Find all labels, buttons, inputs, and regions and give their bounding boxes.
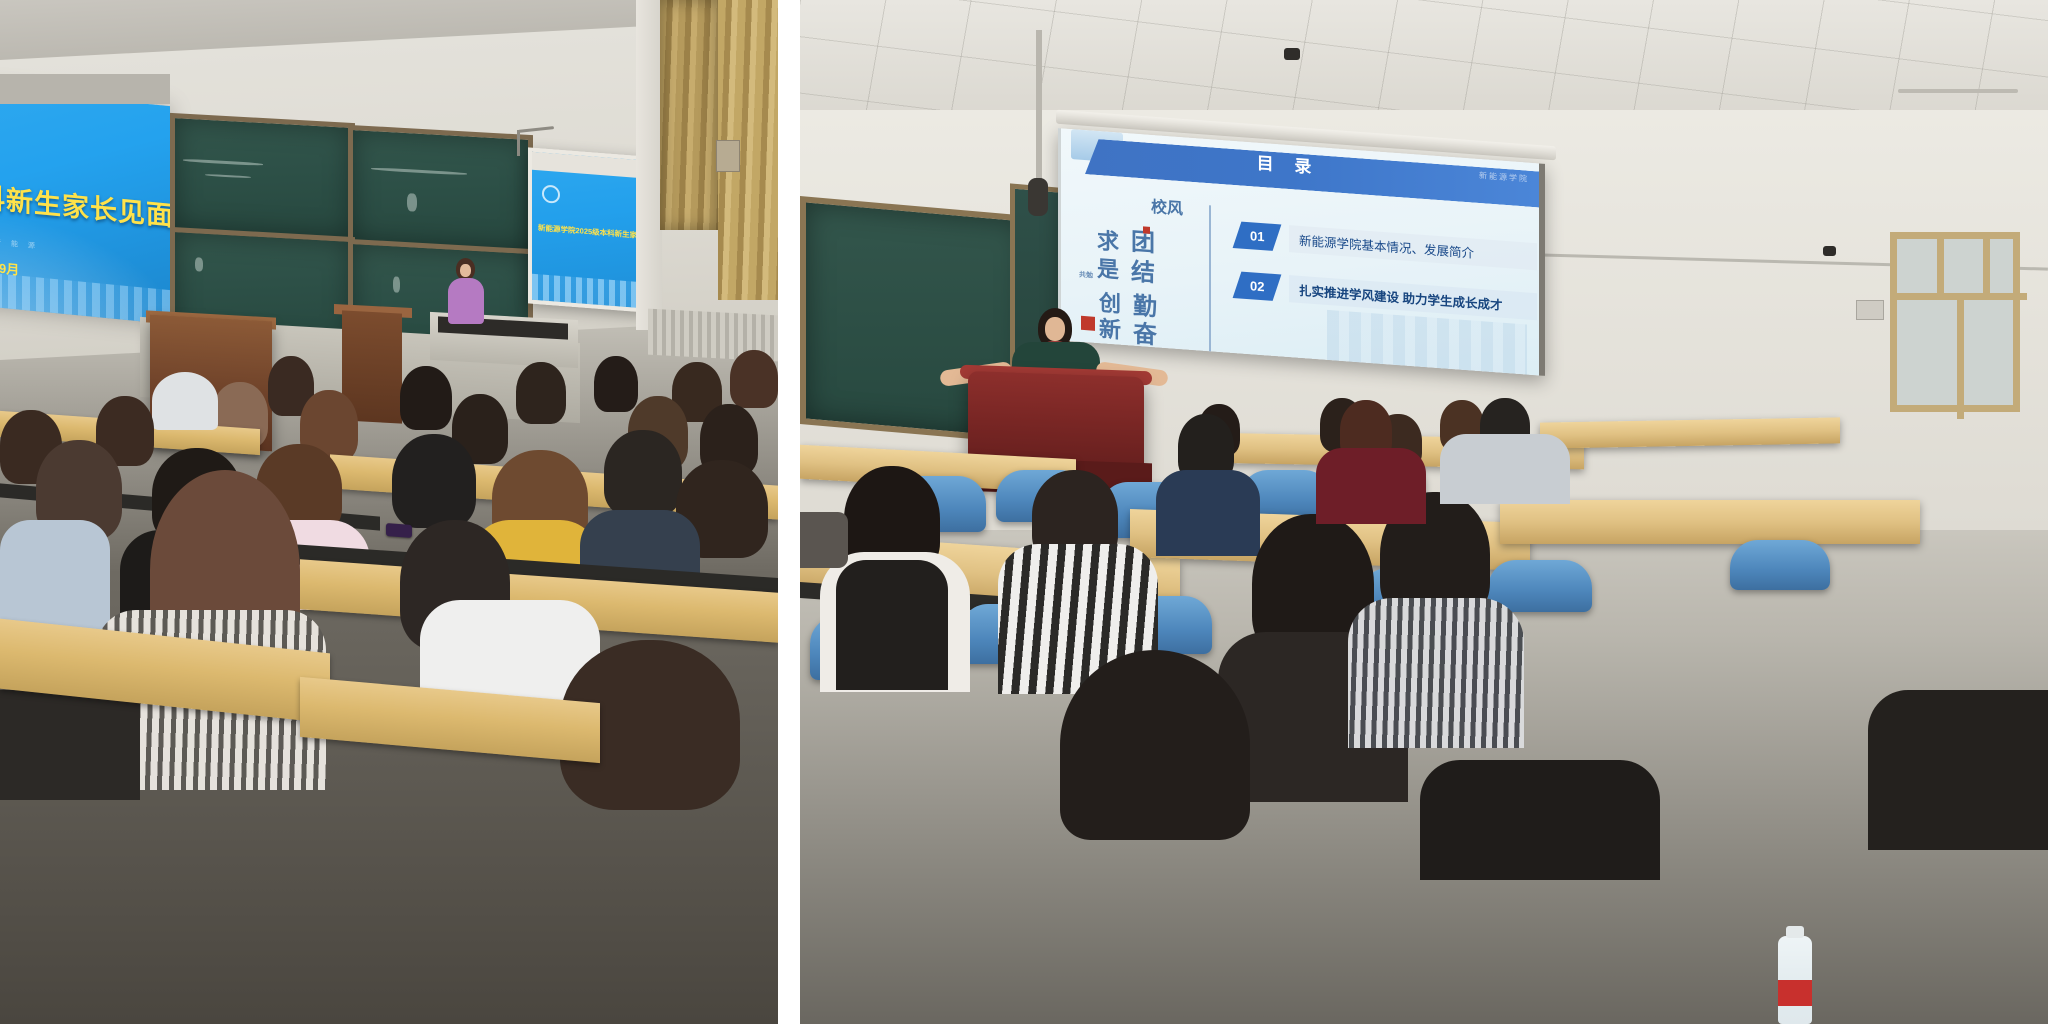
audience-head: [604, 430, 682, 516]
calligraphy-seal-icon: [1143, 226, 1150, 234]
speaker-face: [460, 264, 471, 277]
slide-item-number: 02: [1233, 272, 1282, 301]
audience-head: [516, 362, 566, 424]
calligraphy-label: 校风: [1151, 193, 1183, 219]
ceiling-fan-icon: [1898, 78, 2018, 104]
security-camera-icon: [1823, 246, 1836, 256]
foreground-audience-body: [1868, 690, 2048, 850]
smartphone[interactable]: [386, 523, 412, 538]
left-speaker: [444, 258, 488, 324]
door-mullion: [1937, 239, 1944, 293]
chalk-mark: [205, 174, 251, 179]
speaker-body: [448, 278, 484, 324]
foreground-audience-body: [1420, 760, 1660, 880]
window-curtain: [660, 0, 718, 230]
right-photo: 目 录 新能源学院 校风 求 是 团 结 创 新 勤 奋 共勉 01 新能源学院…: [800, 0, 2048, 1024]
audience-head: [400, 366, 452, 430]
projector-mount-post: [517, 130, 520, 156]
left-screen-subtitle: 年9月: [0, 256, 19, 278]
slide-item-number-text: 01: [1250, 228, 1264, 244]
calligraphy-char: 奋: [1133, 314, 1157, 351]
door-mullion: [1957, 293, 1964, 419]
audience-body-navy: [1156, 470, 1260, 556]
speaker-face: [1045, 317, 1065, 341]
chalk-mark: [183, 159, 263, 166]
photo-diptych: 新 能 源 本科新生家长见面会 年9月 新能源学院2025级本科新生家长见面会: [0, 0, 2048, 1024]
calligraphy-seal-text: 共勉: [1079, 270, 1093, 281]
audience-head: [392, 434, 476, 528]
bottle-cap: [1786, 926, 1804, 938]
audience-body-striped: [1348, 598, 1524, 748]
security-camera-icon: [1284, 48, 1300, 60]
chalk-mark: [195, 257, 203, 271]
audience-desk: [1540, 417, 1840, 448]
audience-body-light: [0, 520, 110, 630]
left-photo: 新 能 源 本科新生家长见面会 年9月 新能源学院2025级本科新生家长见面会: [0, 0, 778, 1024]
chalk-mark: [393, 276, 400, 292]
audience-cap: [152, 372, 218, 430]
foreground-audience-dark: [0, 690, 140, 800]
chalk-mark: [371, 167, 467, 175]
wall-outlet: [1856, 300, 1884, 320]
audience-body-maroon: [1316, 448, 1426, 524]
audience-head: [730, 350, 778, 408]
calligraphy-char: 新: [1099, 311, 1121, 345]
left-main-projection-screen: 新 能 源 本科新生家长见面会 年9月: [0, 86, 170, 324]
slide-item-number-text: 02: [1250, 278, 1264, 294]
audience-head: [594, 356, 638, 412]
water-bottle[interactable]: [1778, 936, 1812, 1024]
screen-top-band: [532, 152, 644, 179]
chalk-mark: [407, 193, 417, 212]
blackboard-panel: [348, 125, 533, 255]
door-mullion: [1983, 239, 1990, 293]
slide-item-text: 新能源学院基本情况、发展简介: [1289, 225, 1537, 270]
calligraphy-char: 是: [1097, 251, 1119, 285]
side-screen-title: 新能源学院2025级本科新生家长见面会: [538, 222, 642, 241]
audience-desk: [1500, 500, 1920, 544]
left-side-projection-screen: 新能源学院2025级本科新生家长见面会: [528, 147, 648, 312]
bottle-label: [1778, 980, 1812, 1006]
classroom-chair[interactable]: [1730, 540, 1830, 590]
wall-pillar: [636, 0, 662, 330]
photo-divider: [778, 0, 800, 1024]
right-projection-screen: 目 录 新能源学院 校风 求 是 团 结 创 新 勤 奋 共勉 01 新能源学院…: [1058, 128, 1545, 376]
calligraphy-char: 结: [1131, 251, 1155, 288]
audience-body-light: [1440, 434, 1570, 504]
university-logo-icon: [542, 184, 560, 203]
foreground-audience-head: [1060, 650, 1250, 840]
blackboard-panel: [170, 113, 355, 243]
slide-item-number: 01: [1233, 222, 1282, 251]
microphone-boom-pole: [1036, 30, 1042, 180]
wall-speaker: [716, 140, 740, 172]
slide-divider-line: [1209, 205, 1211, 355]
microphone-icon: [1028, 178, 1048, 216]
left-screen-valance: [0, 74, 170, 104]
screen-skyline-graphic: [532, 274, 644, 309]
handbag: [800, 512, 848, 568]
classroom-door[interactable]: [1890, 232, 2020, 412]
audience-vest-dark: [836, 560, 948, 690]
